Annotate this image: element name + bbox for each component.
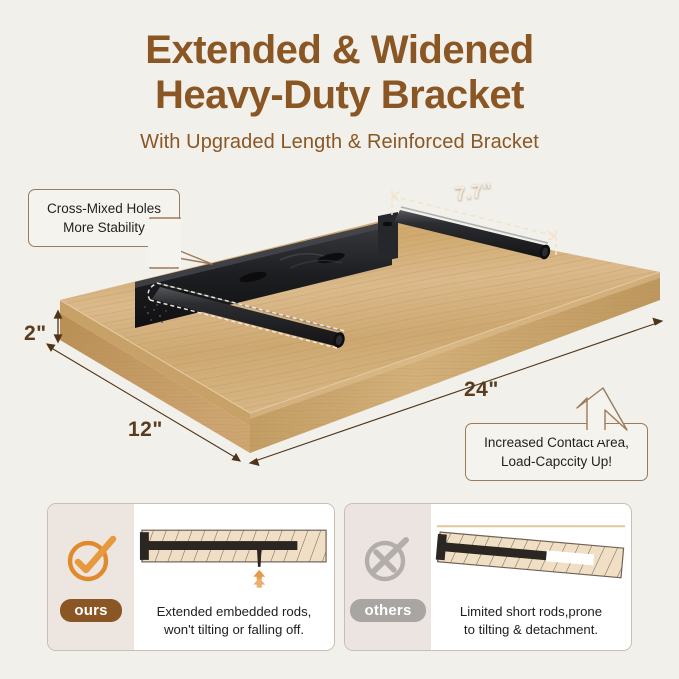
page-title-line2: Heavy-Duty Bracket <box>0 73 679 118</box>
others-caption-line2: to tilting & detachment. <box>439 621 623 639</box>
others-right-column: Limited short rods,prone to tilting & de… <box>431 504 631 650</box>
infographic-canvas: Extended & Widened Heavy-Duty Bracket Wi… <box>0 0 679 679</box>
others-caption-line1: Limited short rods,prone <box>439 603 623 621</box>
dimension-label-thickness: 2" <box>24 322 47 346</box>
others-diagram <box>431 512 631 590</box>
ours-right-column: Extended embedded rods, won't tilting or… <box>134 504 334 650</box>
dimension-label-width: 24" <box>464 378 499 402</box>
comparison-card-ours: ours <box>47 503 335 651</box>
page-title-line1: Extended & Widened <box>0 28 679 73</box>
callout-holes-tail <box>150 218 220 272</box>
ours-caption-line2: won't tilting or falling off. <box>142 621 326 639</box>
x-circle-icon <box>360 533 416 585</box>
ours-left-column: ours <box>48 504 134 650</box>
comparison-section: ours <box>0 503 679 653</box>
others-caption: Limited short rods,prone to tilting & de… <box>431 603 631 639</box>
callout-contact-tail <box>575 390 635 438</box>
dimension-label-depth: 12" <box>128 418 163 442</box>
bracket-end-plate <box>378 212 398 262</box>
others-badge: others <box>350 599 425 622</box>
header-block: Extended & Widened Heavy-Duty Bracket Wi… <box>0 28 679 154</box>
callout-holes-line1: Cross-Mixed Holes <box>39 199 169 218</box>
check-circle-icon <box>63 533 119 585</box>
others-left-column: others <box>345 504 431 650</box>
comparison-card-others: others <box>344 503 632 651</box>
ours-diagram <box>134 512 334 590</box>
ours-badge: ours <box>60 599 121 622</box>
callout-contact-line2: Load-Capccity Up! <box>476 452 637 471</box>
ours-caption: Extended embedded rods, won't tilting or… <box>134 603 334 639</box>
ours-caption-line1: Extended embedded rods, <box>142 603 326 621</box>
dimension-label-rod-length: 7.7" <box>454 180 494 206</box>
